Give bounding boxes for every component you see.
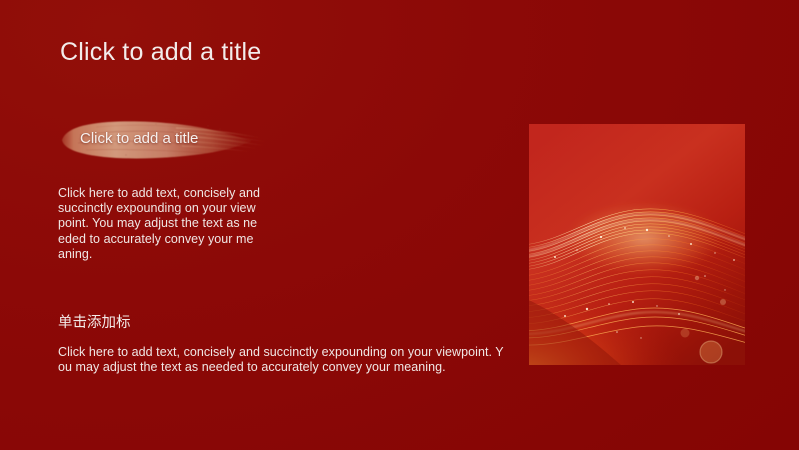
brush-title-block: Click to add a title	[56, 110, 271, 168]
page-title[interactable]: Click to add a title	[60, 36, 261, 68]
sub-heading[interactable]: 单击添加标	[58, 313, 131, 333]
body-text-block-1[interactable]: Click here to add text, concisely and su…	[58, 186, 260, 262]
presentation-slide: Click to add a title	[0, 0, 799, 450]
abstract-golden-light-wave-image[interactable]	[529, 124, 745, 365]
body-text-block-2[interactable]: Click here to add text, concisely and su…	[58, 345, 504, 375]
wave-graphic	[529, 124, 745, 365]
section-title[interactable]: Click to add a title	[80, 129, 198, 149]
